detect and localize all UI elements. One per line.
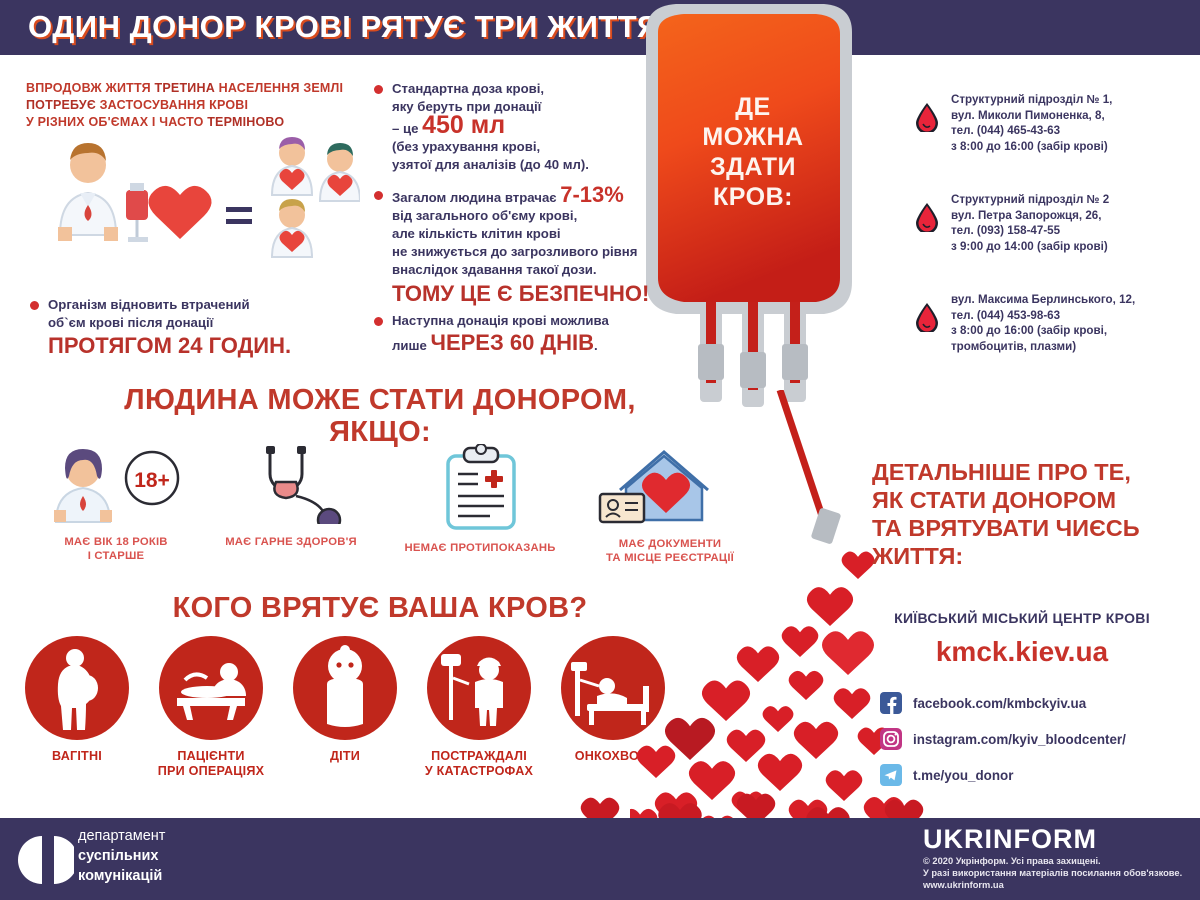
loss-l5: внаслідок здавання такої дози.: [392, 261, 666, 279]
intro-l1c: НАСЕЛЕННЯ ЗЕМЛІ: [215, 81, 343, 95]
dose-l5: узятої для аналізів (до 40 мл).: [392, 156, 664, 174]
dose-l1: Стандартна доза крові,: [392, 80, 664, 98]
bullet-blood-loss: Загалом людина втрачає 7-13% від загальн…: [374, 186, 666, 307]
bullet-dot-icon: [374, 191, 383, 200]
recover-duration: ПРОТЯГОМ 24 ГОДИН.: [48, 333, 360, 359]
criteria-contra-label: НЕМАЄ ПРОТИПОКАЗАНЬ: [380, 541, 580, 555]
bullet-dot-icon: [374, 85, 383, 94]
recipient-2-l1: ДІТИ: [280, 749, 410, 764]
cta-line-3: ТА ВРЯТУВАТИ ЧИЄСЬ: [872, 514, 1192, 542]
addr3-phone: тел. (044) 453-98-63: [951, 308, 1135, 324]
bullet-recovery: Організм відновить втрачений об`єм крові…: [30, 296, 360, 359]
social-link-instagram[interactable]: instagram.com/kyiv_bloodcenter/: [880, 728, 1126, 750]
pregnant-woman-icon: [25, 636, 129, 740]
telegram-icon: [880, 764, 902, 786]
loss-l3: але кількість клітин крові: [392, 225, 666, 243]
donor-heading-line-1: ЛЮДИНА МОЖЕ СТАТИ ДОНОРОМ,: [60, 384, 700, 416]
cta-line-2: ЯК СТАТИ ДОНОРОМ: [872, 486, 1192, 514]
recipient-item-accident: ПОСТРАЖДАЛІ У КАТАСТРОФАХ: [414, 636, 544, 779]
recipient-item-surgery: ПАЦІЄНТИ ПРИ ОПЕРАЦІЯХ: [146, 636, 276, 779]
address-1-text: Структурний підрозділ № 1, вул. Миколи П…: [951, 92, 1112, 154]
blood-drop-icon: [915, 92, 941, 137]
recipient-3-l2: У КАТАСТРОФАХ: [414, 764, 544, 779]
criteria-item-health: МАЄ ГАРНЕ ЗДОРОВ'Я: [196, 444, 386, 549]
loss-l2: від загального об'єму крові,: [392, 207, 666, 225]
recipient-surgery-label: ПАЦІЄНТИ ПРИ ОПЕРАЦІЯХ: [146, 749, 276, 779]
address-2-text: Структурний підрозділ № 2 вул. Петра Зап…: [951, 192, 1109, 254]
dose-l3: – це 450 мл: [392, 116, 664, 138]
saved-person-1: [272, 137, 312, 195]
dose-value: 450 мл: [422, 111, 505, 139]
loss-percent: 7-13%: [560, 182, 624, 207]
address-3-text: вул. Максима Берлинського, 12, тел. (044…: [951, 292, 1135, 354]
cta-heading: ДЕТАЛЬНІШЕ ПРО ТЕ, ЯК СТАТИ ДОНОРОМ ТА В…: [872, 458, 1192, 570]
next-l2: лише ЧЕРЕЗ 60 ДНІВ.: [392, 330, 666, 356]
blood-drop-icon: [915, 192, 941, 237]
recipient-1-l1: ПАЦІЄНТИ: [146, 749, 276, 764]
dep-line-2: суспільних: [78, 846, 298, 866]
facebook-icon: [880, 692, 902, 714]
bullet-recovery-text: Організм відновить втрачений об`єм крові…: [48, 296, 360, 359]
criteria-health-l1: МАЄ ГАРНЕ ЗДОРОВ'Я: [196, 535, 386, 549]
addr1-l1: Структурний підрозділ № 1,: [951, 92, 1112, 108]
infographic-page: ОДИН ДОНОР КРОВІ РЯТУЄ ТРИ ЖИТТЯ!: [0, 0, 1200, 900]
criteria-age-label: МАЄ ВІК 18 РОКІВ І СТАРШЕ: [28, 535, 204, 563]
recover-l1: Організм відновить втрачений: [48, 296, 360, 314]
loss-l1: Загалом людина втрачає 7-13%: [392, 186, 666, 207]
next-interval: ЧЕРЕЗ 60 ДНІВ: [430, 330, 594, 355]
facebook-label: facebook.com/kmbckyiv.ua: [913, 696, 1086, 711]
copyright-text: © 2020 Укрінформ. Усі права захищені. У …: [923, 855, 1182, 891]
donor-criteria-heading: ЛЮДИНА МОЖЕ СТАТИ ДОНОРОМ, ЯКЩО:: [60, 384, 700, 448]
bullet-next-text: Наступна донація крові можлива лише ЧЕРЕ…: [392, 312, 666, 356]
website-link[interactable]: kmck.kiev.ua: [852, 636, 1192, 668]
addr3-l1: вул. Максима Берлинського, 12,: [951, 292, 1135, 308]
criteria-age-l1: МАЄ ВІК 18 РОКІВ: [28, 535, 204, 549]
copy-line-2: У разі використання матеріалів посилання…: [923, 867, 1182, 879]
blood-center-name: КИЇВСЬКИЙ МІСЬКИЙ ЦЕНТР КРОВІ: [852, 610, 1192, 626]
criteria-item-age: 18+ МАЄ ВІК 18 РОКІВ І СТАРШЕ: [28, 444, 204, 563]
svg-text:18+: 18+: [134, 469, 170, 492]
recipient-item-children: ДІТИ: [280, 636, 410, 764]
intro-line-2: ПОТРЕБУЄ ЗАСТОСУВАННЯ КРОВІ: [26, 97, 366, 114]
addr1-hours: з 8:00 до 16:00 (забір крові): [951, 139, 1112, 155]
intro-l2b: ЗАСТОСУВАННЯ КРОВІ: [96, 98, 248, 112]
addr1-l2: вул. Миколи Пимоненка, 8,: [951, 108, 1112, 124]
intro-l2a: ПОТРЕБУЄ: [26, 98, 96, 112]
addr2-phone: тел. (093) 158-47-55: [951, 223, 1109, 239]
woman-18plus-icon: 18+: [28, 444, 204, 524]
intro-l1a: ВПРОДОВЖ ЖИТТЯ: [26, 81, 155, 95]
stethoscope-icon: [196, 444, 386, 524]
recipient-accident-label: ПОСТРАЖДАЛІ У КАТАСТРОФАХ: [414, 749, 544, 779]
dep-line-1: департамент: [78, 826, 298, 846]
social-link-facebook[interactable]: facebook.com/kmbckyiv.ua: [880, 692, 1086, 714]
bullet-loss-text: Загалом людина втрачає 7-13% від загальн…: [392, 186, 666, 307]
saved-person-3: [272, 199, 312, 257]
accident-victim-icon: [427, 636, 531, 740]
criteria-item-no-contra: НЕМАЄ ПРОТИПОКАЗАНЬ: [380, 444, 580, 555]
criteria-age-l2: І СТАРШЕ: [28, 549, 204, 563]
recipient-3-l1: ПОСТРАЖДАЛІ: [414, 749, 544, 764]
instagram-label: instagram.com/kyiv_bloodcenter/: [913, 732, 1126, 747]
addr1-phone: тел. (044) 465-43-63: [951, 123, 1112, 139]
department-logo-icon: [16, 834, 74, 886]
recipient-item-pregnant: ВАГІТНІ: [12, 636, 142, 764]
home-documents-icon: [570, 444, 770, 526]
donor-equals-three-lives-illustration: [30, 135, 360, 275]
surgery-patient-icon: [159, 636, 263, 740]
loss-l1a: Загалом людина втрачає: [392, 190, 560, 205]
criteria-contra-l1: НЕМАЄ ПРОТИПОКАЗАНЬ: [380, 541, 580, 555]
intro-line-1: ВПРОДОВЖ ЖИТТЯ ТРЕТИНА НАСЕЛЕННЯ ЗЕМЛІ: [26, 80, 366, 97]
next-l1: Наступна донація крові можлива: [392, 312, 666, 330]
dose-l4: (без урахування крові,: [392, 138, 664, 156]
dose-l3a: – це: [392, 121, 422, 136]
next-l2a: лише: [392, 338, 430, 353]
blood-drop-icon: [915, 292, 941, 337]
iv-stand-icon: [126, 183, 148, 242]
bullet-dot-icon: [30, 301, 39, 310]
social-link-telegram[interactable]: t.me/you_donor: [880, 764, 1013, 786]
intro-l3b: ТЕРМІНОВО: [207, 115, 284, 129]
bullet-next-donation: Наступна донація крові можлива лише ЧЕРЕ…: [374, 312, 666, 356]
instagram-icon: [880, 728, 902, 750]
department-name: департамент суспільних комунікацій: [78, 826, 298, 886]
bullet-standard-dose: Стандартна доза крові, яку беруть при до…: [374, 80, 664, 174]
bullet-dot-icon: [374, 317, 383, 326]
recipient-1-l2: ПРИ ОПЕРАЦІЯХ: [146, 764, 276, 779]
page-title: ОДИН ДОНОР КРОВІ РЯТУЄ ТРИ ЖИТТЯ!: [28, 9, 670, 45]
addr2-hours: з 9:00 до 14:00 (забір крові): [951, 239, 1109, 255]
addr2-l1: Структурний підрозділ № 2: [951, 192, 1109, 208]
intro-l3a: У РІЗНИХ ОБ'ЄМАХ І ЧАСТО: [26, 115, 207, 129]
addr3-hours-1: з 8:00 до 16:00 (забір крові,: [951, 323, 1135, 339]
intro-text: ВПРОДОВЖ ЖИТТЯ ТРЕТИНА НАСЕЛЕННЯ ЗЕМЛІ П…: [26, 80, 366, 131]
loss-safe-statement: ТОМУ ЦЕ Є БЕЗПЕЧНО!: [392, 281, 666, 307]
baby-icon: [293, 636, 397, 740]
address-item-1: Структурний підрозділ № 1, вул. Миколи П…: [915, 92, 1112, 154]
recipient-children-label: ДІТИ: [280, 749, 410, 764]
address-item-2: Структурний підрозділ № 2 вул. Петра Зап…: [915, 192, 1109, 254]
donor-figure: [58, 143, 118, 241]
recipients-heading: КОГО ВРЯТУЄ ВАША КРОВ?: [60, 592, 700, 624]
saved-person-2: [320, 143, 360, 201]
address-item-3: вул. Максима Берлинського, 12, тел. (044…: [915, 292, 1135, 354]
addr2-l2: вул. Петра Запорожця, 26,: [951, 208, 1109, 224]
recover-l2: об`єм крові після донації: [48, 314, 360, 332]
dep-line-3: комунікацій: [78, 866, 298, 886]
recipient-0-l1: ВАГІТНІ: [12, 749, 142, 764]
ukrinform-logo: UKRINFORM: [923, 824, 1097, 855]
copy-line-3: www.ukrinform.ua: [923, 879, 1182, 891]
bullet-dose-text: Стандартна доза крові, яку беруть при до…: [392, 80, 664, 174]
next-l2c: .: [594, 338, 598, 353]
intro-line-3: У РІЗНИХ ОБ'ЄМАХ І ЧАСТО ТЕРМІНОВО: [26, 114, 366, 131]
cta-line-4: ЖИТТЯ:: [872, 542, 1192, 570]
recipient-pregnant-label: ВАГІТНІ: [12, 749, 142, 764]
telegram-label: t.me/you_donor: [913, 768, 1013, 783]
cta-line-1: ДЕТАЛЬНІШЕ ПРО ТЕ,: [872, 458, 1192, 486]
copy-line-1: © 2020 Укрінформ. Усі права захищені.: [923, 855, 1182, 867]
addr3-hours-2: тромбоцитів, плазми): [951, 339, 1135, 355]
criteria-health-label: МАЄ ГАРНЕ ЗДОРОВ'Я: [196, 535, 386, 549]
clipboard-medical-icon: [380, 444, 580, 530]
loss-l4: не знижується до загрозливого рівня: [392, 243, 666, 261]
intro-l1b: ТРЕТИНА: [155, 81, 215, 95]
heart-icon: [148, 186, 211, 239]
